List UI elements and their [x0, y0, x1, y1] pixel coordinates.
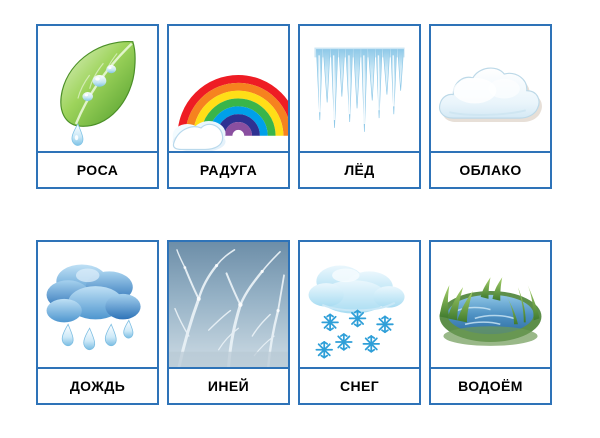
worksheet-page: РОСА: [0, 0, 600, 438]
card-label: РАДУГА: [169, 153, 288, 187]
card-label: РОСА: [38, 153, 157, 187]
cloud-icon: [431, 26, 550, 151]
snow-cloud-icon: [300, 242, 419, 367]
rain-cloud-icon: [38, 242, 157, 367]
card-label: ВОДОЁМ: [431, 369, 550, 403]
pond-illustration: [431, 242, 550, 367]
card-label: ОБЛАКО: [431, 153, 550, 187]
card-rain[interactable]: ДОЖДЬ: [36, 240, 159, 405]
icicles-illustration: [300, 26, 419, 151]
card-ice[interactable]: ЛЁД: [298, 24, 421, 189]
card-snow[interactable]: СНЕГ: [298, 240, 421, 405]
pond-icon: [431, 242, 550, 367]
card-dew[interactable]: РОСА: [36, 24, 159, 189]
card-label: СНЕГ: [300, 369, 419, 403]
frost-photo-illustration: [169, 242, 288, 367]
card-label: ИНЕЙ: [169, 369, 288, 403]
card-row-2: ДОЖДЬ: [36, 240, 552, 405]
cloud-illustration: [431, 26, 550, 151]
dew-leaf-illustration: [38, 26, 157, 151]
snow-illustration: [300, 242, 419, 367]
icicles-icon: [300, 26, 419, 151]
rainbow-illustration: [169, 26, 288, 151]
card-label: ДОЖДЬ: [38, 369, 157, 403]
card-rainbow[interactable]: РАДУГА: [167, 24, 290, 189]
frost-branches-photo: [169, 242, 288, 367]
card-label: ЛЁД: [300, 153, 419, 187]
dew-leaf-icon: [38, 26, 157, 151]
card-row-1: РОСА: [36, 24, 552, 189]
card-pond[interactable]: ВОДОЁМ: [429, 240, 552, 405]
rain-illustration: [38, 242, 157, 367]
rainbow-cloud-icon: [169, 26, 288, 151]
card-frost[interactable]: ИНЕЙ: [167, 240, 290, 405]
card-cloud[interactable]: ОБЛАКО: [429, 24, 552, 189]
